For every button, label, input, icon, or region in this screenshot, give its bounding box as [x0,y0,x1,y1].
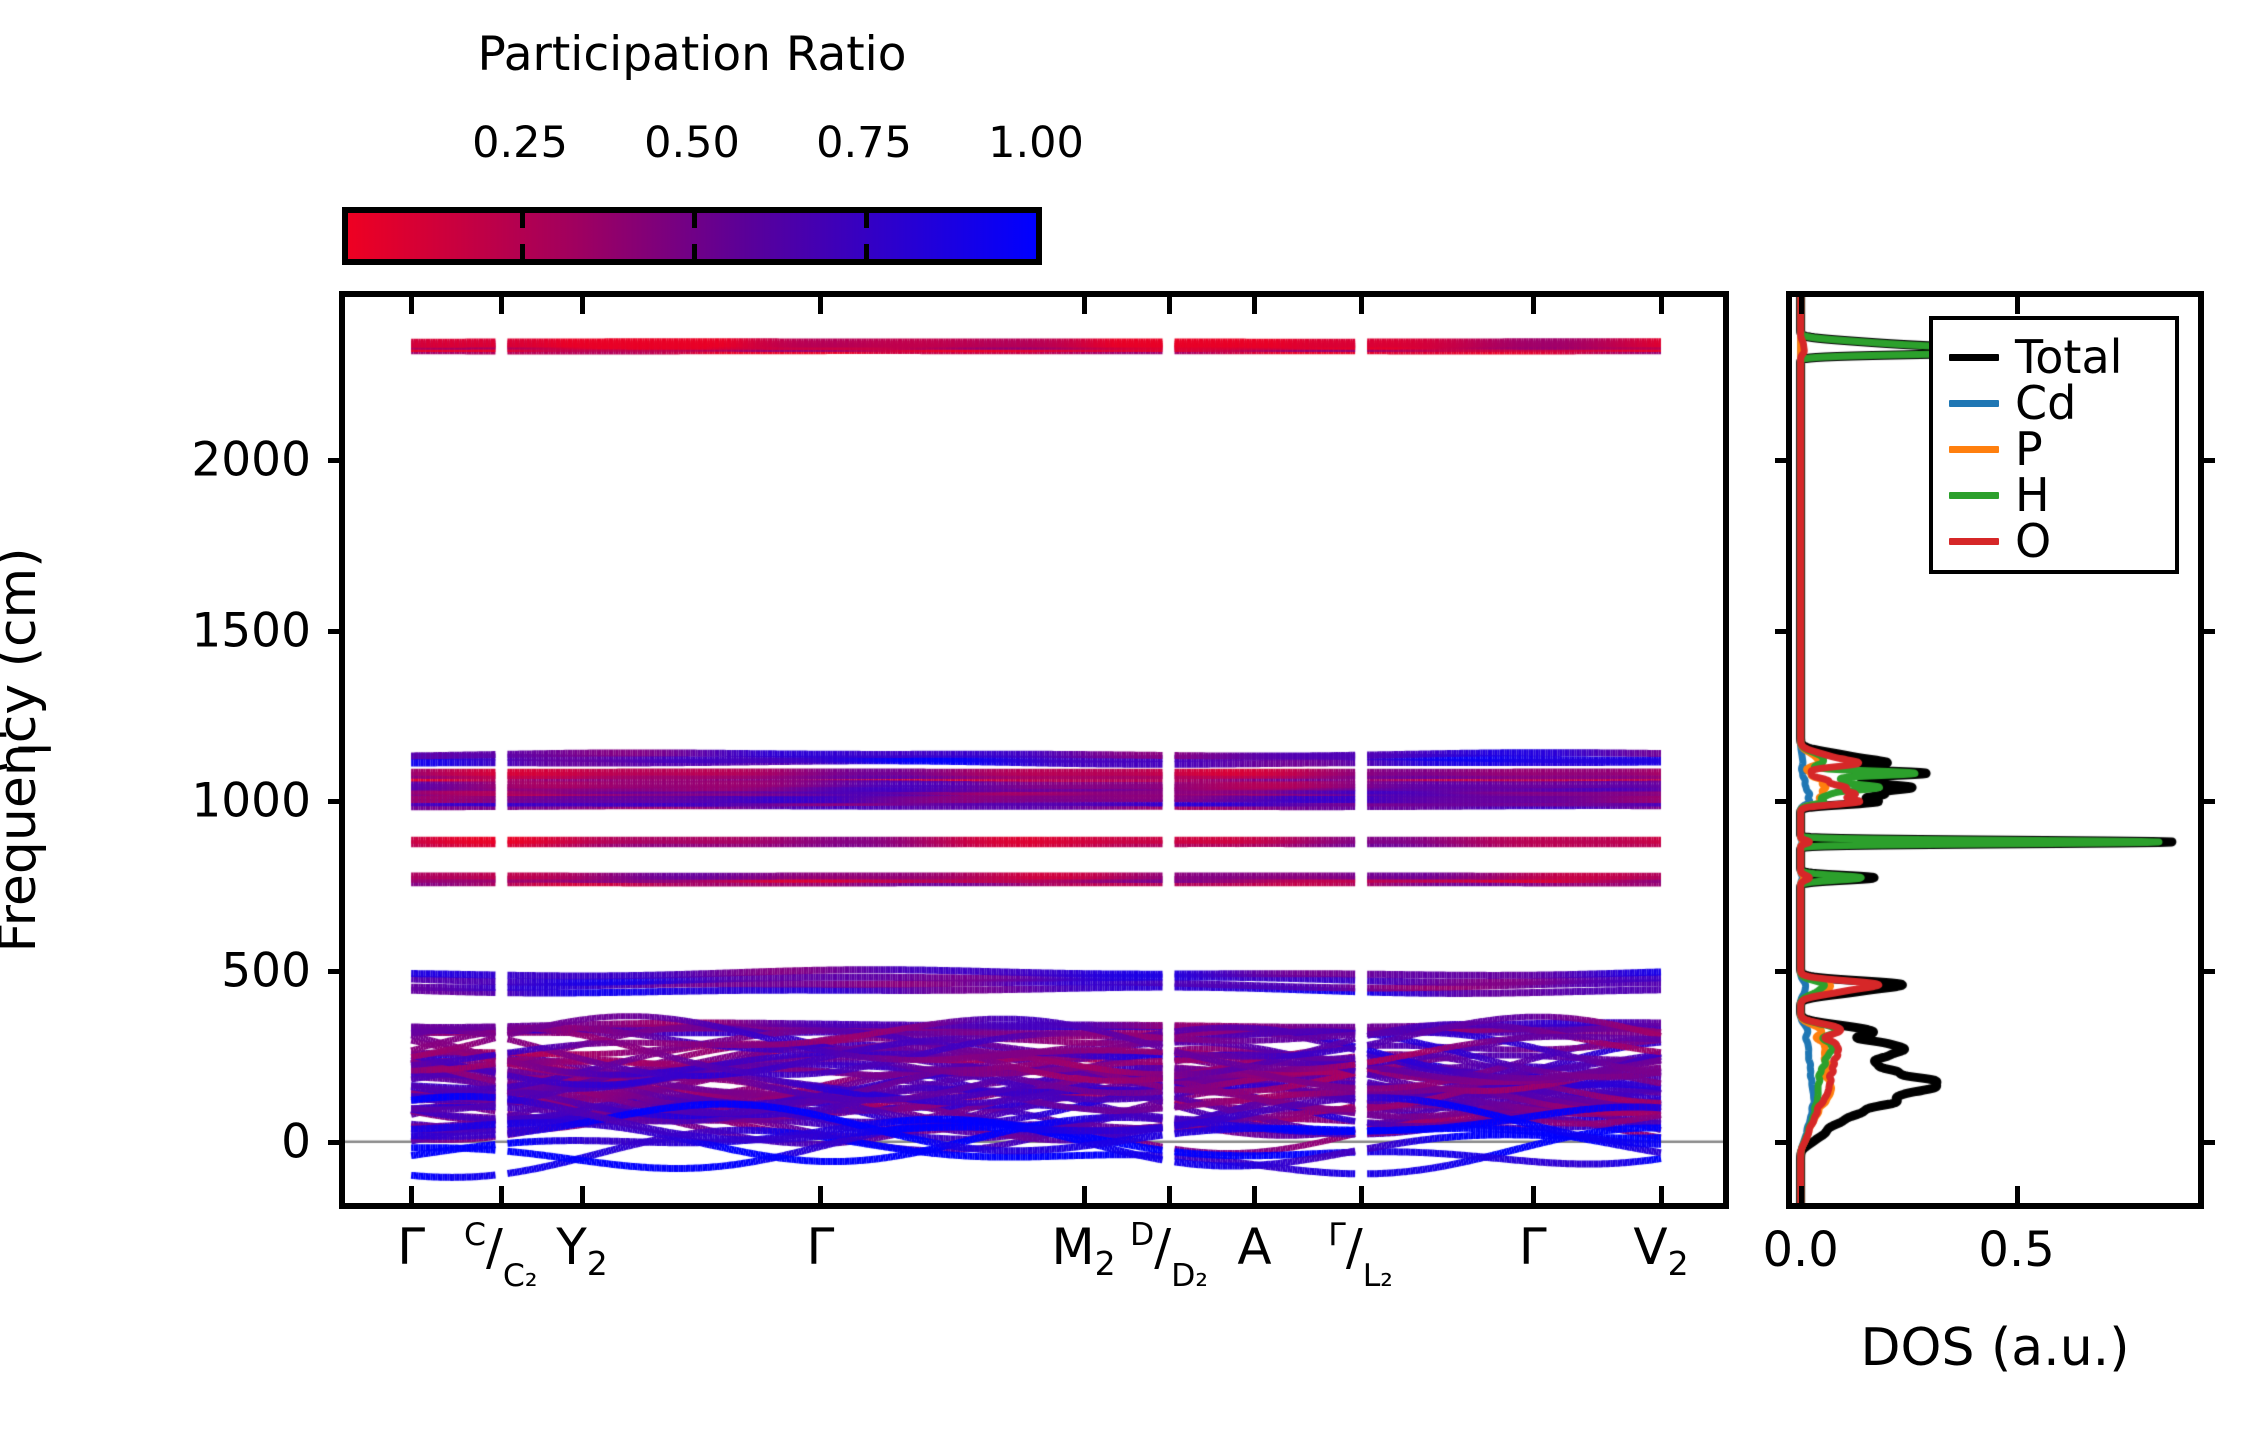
dos-x-tick-label: 0.0 [1762,1222,1838,1278]
figure-canvas: Participation Ratio 0.250.500.751.00 Fre… [0,0,2259,1455]
x-axis-tick [818,297,823,314]
dos-x-tick-label: 0.5 [1978,1222,2054,1278]
band-structure-plot [345,297,1723,1203]
colorbar-tick-label: 0.75 [816,118,912,168]
legend-color-swatch [1949,492,1999,499]
dos-legend: TotalCdPHO [1929,316,2179,574]
y-axis-tick [328,1140,345,1145]
x-axis-tick [1359,297,1364,314]
x-axis-tick [1531,1186,1536,1203]
y-tick-label: 1500 [0,603,311,658]
y-axis-tick [328,458,345,463]
x-axis-tick [580,1186,585,1203]
x-tick-label: Γ/L₂ [1328,1222,1393,1282]
x-tick-label: A [1237,1222,1271,1272]
x-axis-tick [499,1186,504,1203]
x-axis-tick [409,1186,414,1203]
x-axis-tick [1252,297,1257,314]
x-axis-tick [1167,297,1172,314]
dos-y-tick-right [2198,458,2215,463]
dos-y-tick-right [2198,969,2215,974]
x-axis-tick [818,1186,823,1203]
x-tick-label: Γ [397,1222,425,1272]
colorbar-tick-labels: 0.250.500.751.00 [342,118,1042,178]
y-tick-label: 1000 [0,774,311,829]
legend-entry: H [1933,472,2175,518]
x-axis-tick [580,297,585,314]
legend-entry: P [1933,426,2175,472]
x-tick-label: D/D₂ [1130,1222,1208,1282]
participation-ratio-colorbar [342,207,1042,265]
y-axis-tick [328,799,345,804]
legend-entry: Cd [1933,380,2175,426]
legend-label: Total [2015,334,2122,380]
y-tick-label: 500 [0,944,311,999]
dos-y-tick-left [1775,1140,1792,1145]
x-axis-tick [1659,1186,1664,1203]
x-axis-tick [1659,297,1664,314]
colorbar-tick-label: 0.25 [472,118,568,168]
dos-y-tick-left [1775,799,1792,804]
colorbar-tick-label: 0.50 [644,118,740,168]
colorbar-tick [520,213,525,228]
colorbar-tick-label: 1.00 [988,118,1084,168]
legend-label: Cd [2015,380,2076,426]
colorbar-tick [864,213,869,228]
x-axis-tick [1167,1186,1172,1203]
x-axis-tick [499,297,504,314]
y-axis-tick [328,629,345,634]
colorbar-tick [692,244,697,259]
colorbar-tick [864,244,869,259]
x-axis-tick [409,297,414,314]
dos-y-tick-right [2198,1140,2215,1145]
y-axis-tick [328,969,345,974]
dos-x-tick [1799,297,1804,314]
colorbar-tick [692,213,697,228]
legend-entry: Total [1933,334,2175,380]
dos-y-tick-left [1775,629,1792,634]
legend-label: H [2015,472,2050,518]
dos-y-tick-right [2198,799,2215,804]
legend-color-swatch [1949,400,1999,407]
legend-color-swatch [1949,354,1999,361]
dos-x-tick [2015,297,2020,314]
x-axis-tick [1082,1186,1087,1203]
legend-color-swatch [1949,446,1999,453]
x-axis-tick [1531,297,1536,314]
x-tick-label: C/C₂ [464,1222,537,1282]
x-axis-tick [1082,297,1087,314]
y-axis-label: Frequency (cm−1) [0,291,48,1209]
x-tick-label: V2 [1633,1222,1688,1280]
x-tick-label: Γ [806,1222,834,1272]
y-tick-label: 0 [0,1114,311,1169]
x-axis-tick [1359,1186,1364,1203]
phonon-band-structure-panel [339,291,1729,1209]
legend-color-swatch [1949,538,1999,545]
dos-y-tick-left [1775,969,1792,974]
x-tick-label: Y2 [556,1222,608,1280]
y-tick-label: 2000 [0,433,311,488]
dos-y-tick-left [1775,458,1792,463]
dos-x-tick [2015,1186,2020,1203]
dos-y-tick-right [2198,629,2215,634]
colorbar-title: Participation Ratio [342,30,1042,79]
legend-label: P [2015,426,2043,472]
x-axis-tick [1252,1186,1257,1203]
x-tick-label: M2 [1052,1222,1116,1280]
x-tick-labels-dos-panel: 0.00.5 [1786,1222,2204,1292]
x-tick-labels-band-panel: ΓC/C₂Y2ΓM2D/D₂AΓ/L₂ΓV2 [339,1222,1729,1342]
dos-x-tick [1799,1186,1804,1203]
colorbar-tick [520,244,525,259]
legend-label: O [2015,518,2051,564]
x-tick-label: Γ [1519,1222,1547,1272]
legend-entry: O [1933,518,2175,564]
dos-axis-title: DOS (a.u.) [1786,1318,2204,1378]
